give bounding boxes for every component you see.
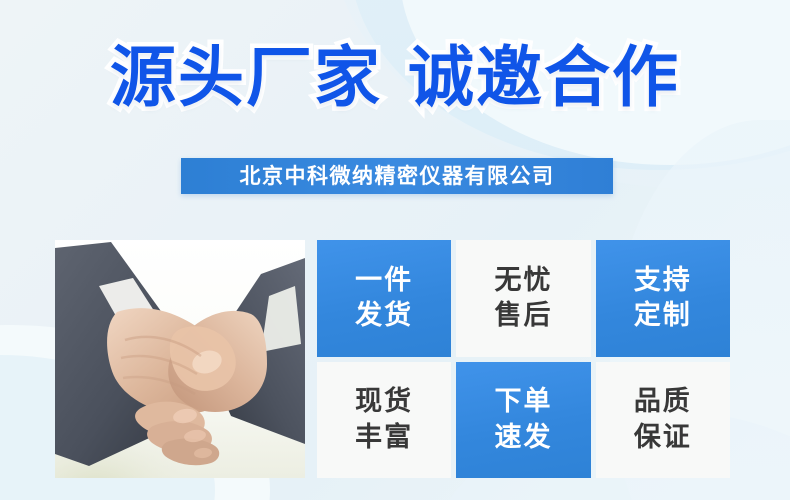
headline: 源头厂家诚邀合作	[0, 44, 790, 110]
feature-cell-4[interactable]: 现货 丰富	[317, 362, 451, 479]
feature-cell-3[interactable]: 支持 定制	[596, 240, 730, 357]
feature-cell-3-line1: 支持	[634, 263, 692, 299]
feature-cell-2-line2: 售后	[494, 298, 552, 334]
feature-cell-3-line2: 定制	[634, 298, 692, 334]
feature-cell-6[interactable]: 品质 保证	[596, 362, 730, 479]
feature-cell-4-line2: 丰富	[355, 420, 413, 456]
headline-part-1: 源头厂家	[110, 40, 382, 114]
feature-cell-1-line2: 发货	[355, 298, 413, 334]
handshake-photo	[55, 240, 305, 478]
feature-cell-1-line1: 一件	[355, 263, 413, 299]
feature-cell-5-line1: 下单	[494, 384, 552, 420]
feature-grid: 一件 发货 无忧 售后 支持 定制 现货 丰富 下单 速发 品质 保证	[317, 240, 730, 478]
feature-cell-4-line1: 现货	[355, 384, 413, 420]
feature-cell-2-line1: 无忧	[494, 263, 552, 299]
feature-cell-1[interactable]: 一件 发货	[317, 240, 451, 357]
company-name-banner: 北京中科微纳精密仪器有限公司	[181, 158, 613, 194]
promo-banner: 源头厂家诚邀合作 北京中科微纳精密仪器有限公司	[0, 0, 790, 500]
headline-part-2: 诚邀合作	[408, 40, 680, 114]
company-name-text: 北京中科微纳精密仪器有限公司	[240, 166, 555, 187]
feature-cell-6-line2: 保证	[634, 420, 692, 456]
feature-cell-5[interactable]: 下单 速发	[456, 362, 590, 479]
handshake-illustration	[55, 240, 305, 478]
feature-cell-2[interactable]: 无忧 售后	[456, 240, 590, 357]
feature-cell-5-line2: 速发	[494, 420, 552, 456]
feature-cell-6-line1: 品质	[634, 384, 692, 420]
